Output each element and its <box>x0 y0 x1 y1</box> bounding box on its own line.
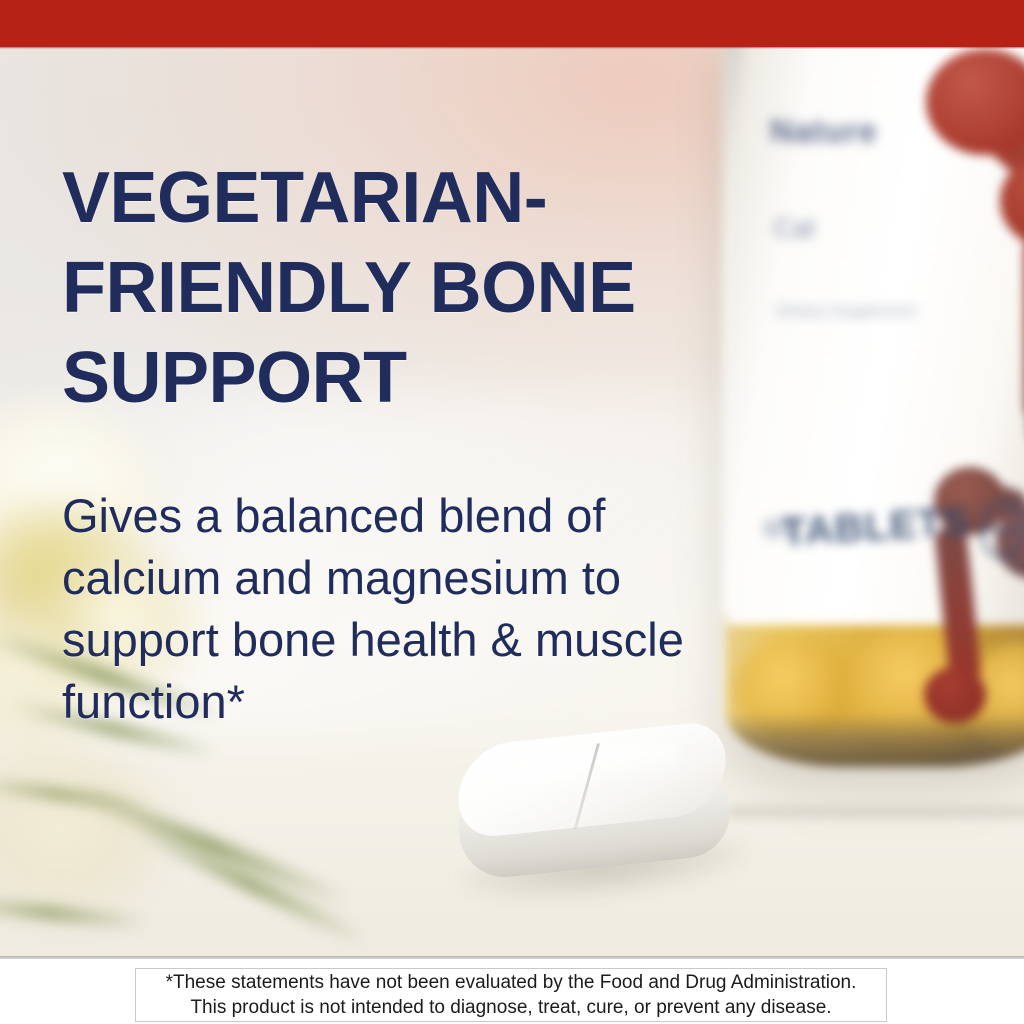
molecule-node-icon <box>1000 155 1024 247</box>
bottle-label: Nature Cal Dietary Supplement 60 TABLETS <box>728 47 1024 625</box>
top-accent-bar-shadow <box>0 47 1024 49</box>
marketing-image-canvas: Nature Cal Dietary Supplement 60 TABLETS… <box>0 0 1024 1024</box>
page-subtext: Gives a balanced blend of calcium and ma… <box>62 485 722 733</box>
bottle-label-subtitle: Cal <box>774 213 815 244</box>
top-accent-bar <box>0 0 1024 47</box>
footer-band: *These statements have not been evaluate… <box>0 959 1024 1024</box>
supplement-bottle: Nature Cal Dietary Supplement 60 TABLETS <box>722 47 1024 817</box>
bottle-base-shadow <box>725 713 1024 767</box>
disclaimer-line-2: This product is not intended to diagnose… <box>190 995 831 1020</box>
disclaimer-line-1: *These statements have not been evaluate… <box>166 970 857 995</box>
molecule-node-icon <box>926 49 1024 155</box>
bottle-label-fine-print: Dietary Supplement <box>776 303 917 321</box>
bottle-label-brand: Nature <box>770 113 877 150</box>
white-caplet-tablet <box>441 712 758 922</box>
bottle-label-edge <box>728 801 1024 817</box>
product-photo: Nature Cal Dietary Supplement 60 TABLETS… <box>0 47 1024 958</box>
page-headline: VEGETARIAN-FRIENDLY BONE SUPPORT <box>62 153 742 423</box>
oval-capsule-icon <box>980 501 1024 559</box>
molecule-node-icon <box>924 667 986 723</box>
fda-disclaimer-box: *These statements have not been evaluate… <box>135 968 887 1022</box>
